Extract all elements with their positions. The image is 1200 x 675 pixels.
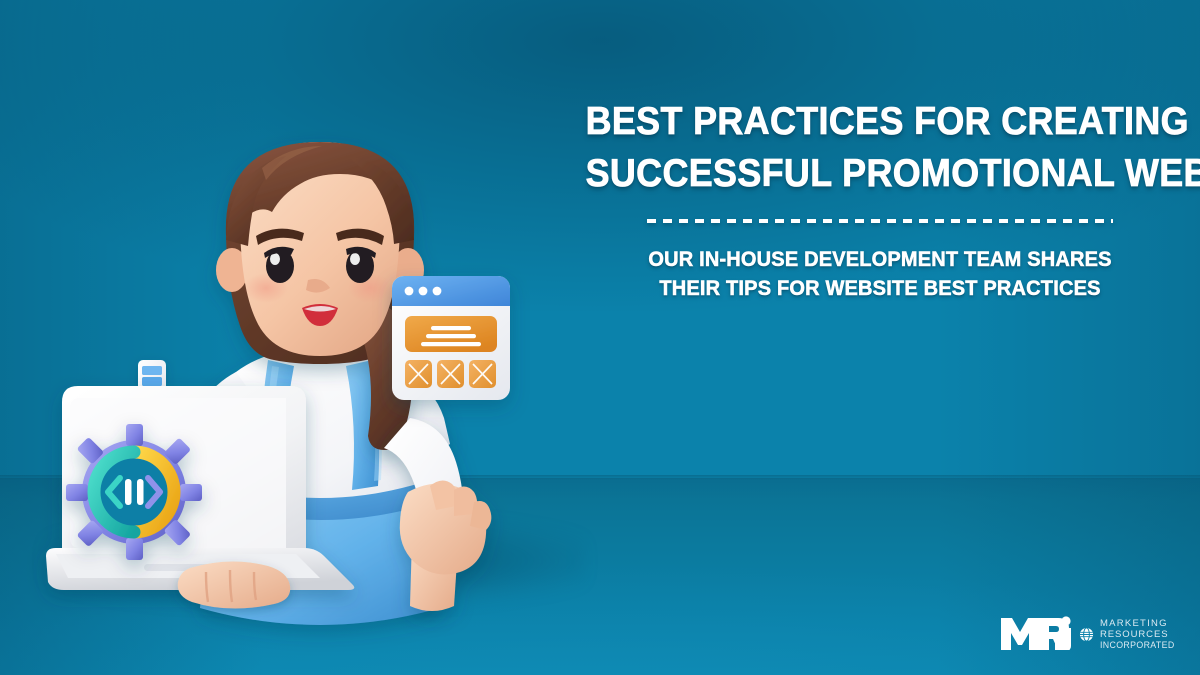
headline-line-1: BEST PRACTICES FOR CREATING: [586, 96, 1175, 148]
logo-word-marketing: MARKETING: [1100, 619, 1175, 629]
logo-wordmark-lines: MARKETING RESOURCES INCORPORATED: [1100, 618, 1175, 651]
subtitle-line-1: OUR IN-HOUSE DEVELOPMENT TEAM SHARES: [582, 245, 1177, 275]
page-subtitle: OUR IN-HOUSE DEVELOPMENT TEAM SHARES THE…: [582, 245, 1177, 304]
logo-word-incorporated: INCORPORATED: [1100, 641, 1175, 651]
subtitle-line-2: THEIR TIPS FOR WEBSITE BEST PRACTICES: [582, 274, 1177, 304]
hero-copy: BEST PRACTICES FOR CREATING SUCCESSFUL P…: [560, 96, 1200, 304]
globe-icon: [1079, 627, 1094, 642]
page-title: BEST PRACTICES FOR CREATING SUCCESSFUL P…: [586, 96, 1175, 201]
illustration-svg: [40, 120, 580, 620]
logo-word-resources: RESOURCES: [1100, 630, 1175, 640]
character-right-hand: [178, 561, 290, 608]
headline-line-2: SUCCESSFUL PROMOTIONAL WEBSITES: [586, 148, 1175, 200]
hero-illustration: [40, 120, 580, 620]
mri-logo[interactable]: MARKETING RESOURCES INCORPORATED: [999, 614, 1175, 654]
promotional-banner: BEST PRACTICES FOR CREATING SUCCESSFUL P…: [0, 0, 1200, 675]
browser-dot-1: [405, 287, 414, 296]
browser-window-mockup: [392, 276, 510, 400]
dashed-divider: [647, 219, 1113, 223]
code-gear-icon: [66, 424, 202, 560]
browser-dot-3: [433, 287, 442, 296]
mri-wordmark-icon: [999, 614, 1073, 654]
placeholder-boxes: [405, 360, 496, 388]
browser-dot-2: [419, 287, 428, 296]
